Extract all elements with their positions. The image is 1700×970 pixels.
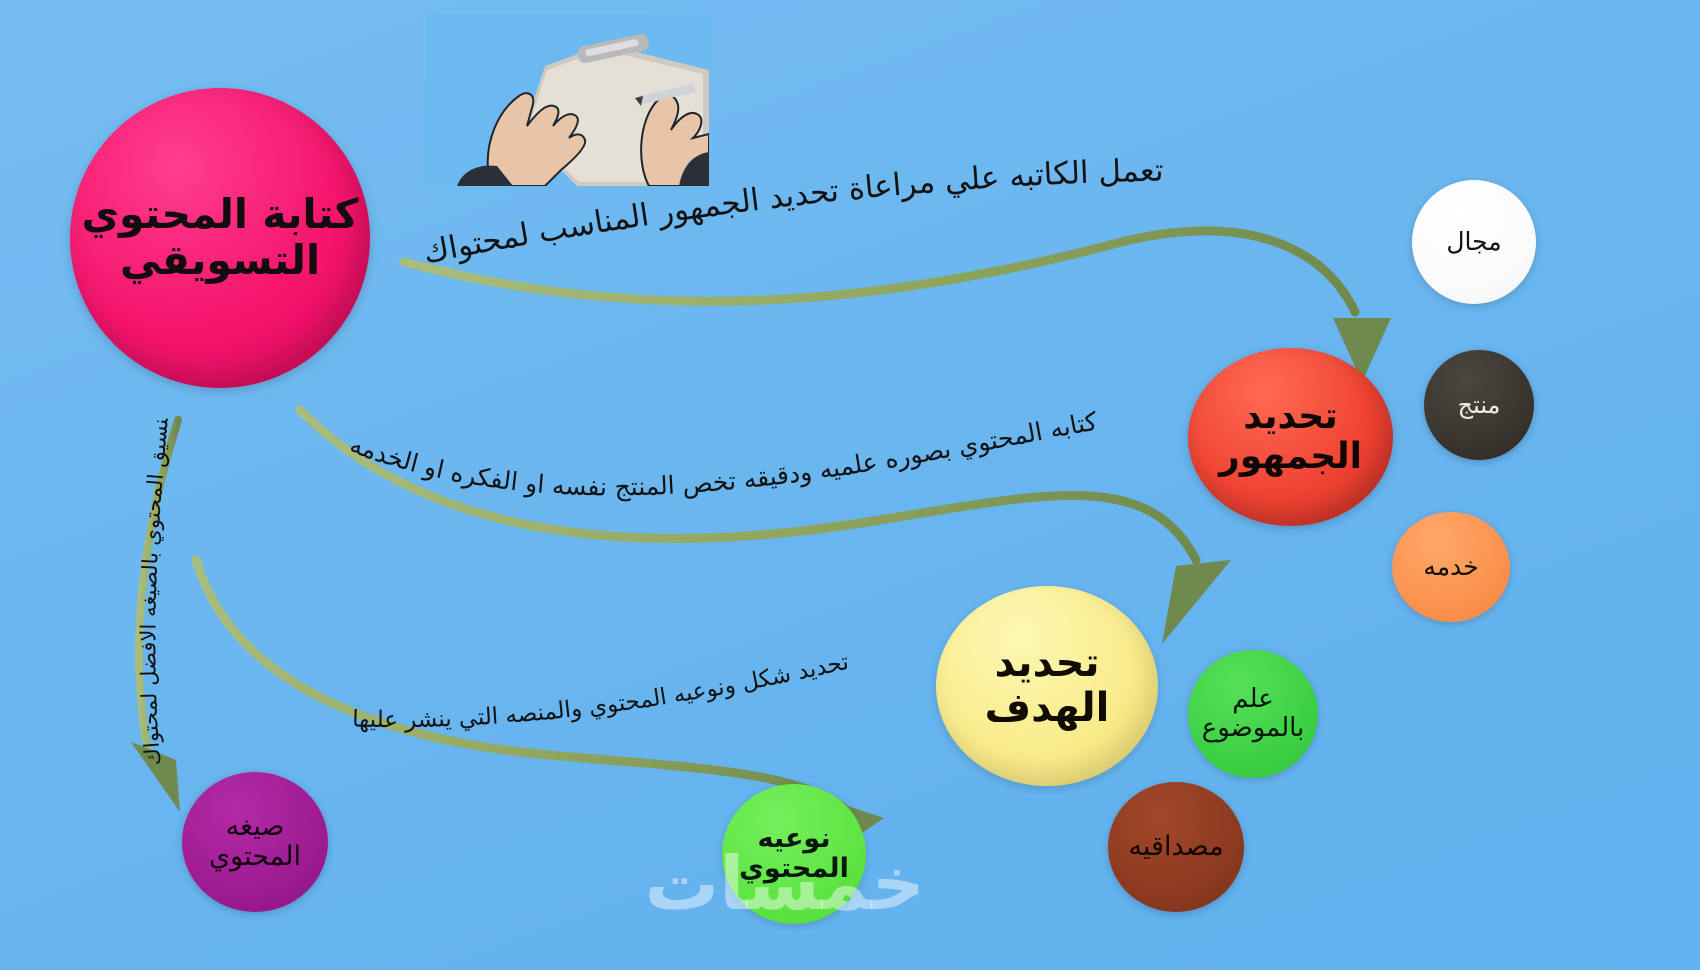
connector-label-to-content-type: تحديد شكل ونوعيه المحتوي والمنصه التي ين…: [352, 649, 851, 733]
node-service-label: خدمه: [1396, 553, 1506, 581]
node-main-label: كتابة المحتوي التسويقي: [74, 192, 366, 284]
node-knowledge-label: علم بالموضوع: [1192, 685, 1314, 743]
node-knowledge[interactable]: علم بالموضوع: [1188, 650, 1318, 778]
node-goal-label: تحديد الهدف: [940, 641, 1154, 731]
node-product[interactable]: منتج: [1424, 350, 1534, 460]
node-audience[interactable]: تحديد الجمهور: [1188, 348, 1393, 526]
node-field[interactable]: مجال: [1412, 180, 1536, 304]
arrowhead-goal: [1162, 560, 1231, 644]
node-content-type-label: نوعيه المحتوي: [726, 824, 862, 884]
node-content-format-label: صيغه المحتوي: [186, 812, 324, 872]
node-product-label: منتج: [1428, 392, 1530, 419]
clipboard-photo: [427, 14, 709, 186]
node-service[interactable]: خدمه: [1392, 512, 1510, 622]
node-audience-label: تحديد الجمهور: [1192, 397, 1389, 478]
node-content-format[interactable]: صيغه المحتوي: [182, 772, 328, 912]
node-credibility[interactable]: مصداقيه: [1108, 782, 1244, 912]
connector-label-to-goal: كتابه المحتوي بصوره علميه ودقيقه تخص الم…: [346, 407, 1099, 503]
node-credibility-label: مصداقيه: [1112, 832, 1240, 862]
node-main[interactable]: كتابة المحتوي التسويقي: [70, 88, 370, 388]
node-content-type[interactable]: نوعيه المحتوي: [722, 784, 866, 924]
node-goal[interactable]: تحديد الهدف: [936, 586, 1158, 786]
mindmap-canvas: تعمل الكاتبه علي مراعاة تحديد الجمهور ال…: [0, 0, 1700, 970]
node-field-label: مجال: [1416, 228, 1532, 256]
